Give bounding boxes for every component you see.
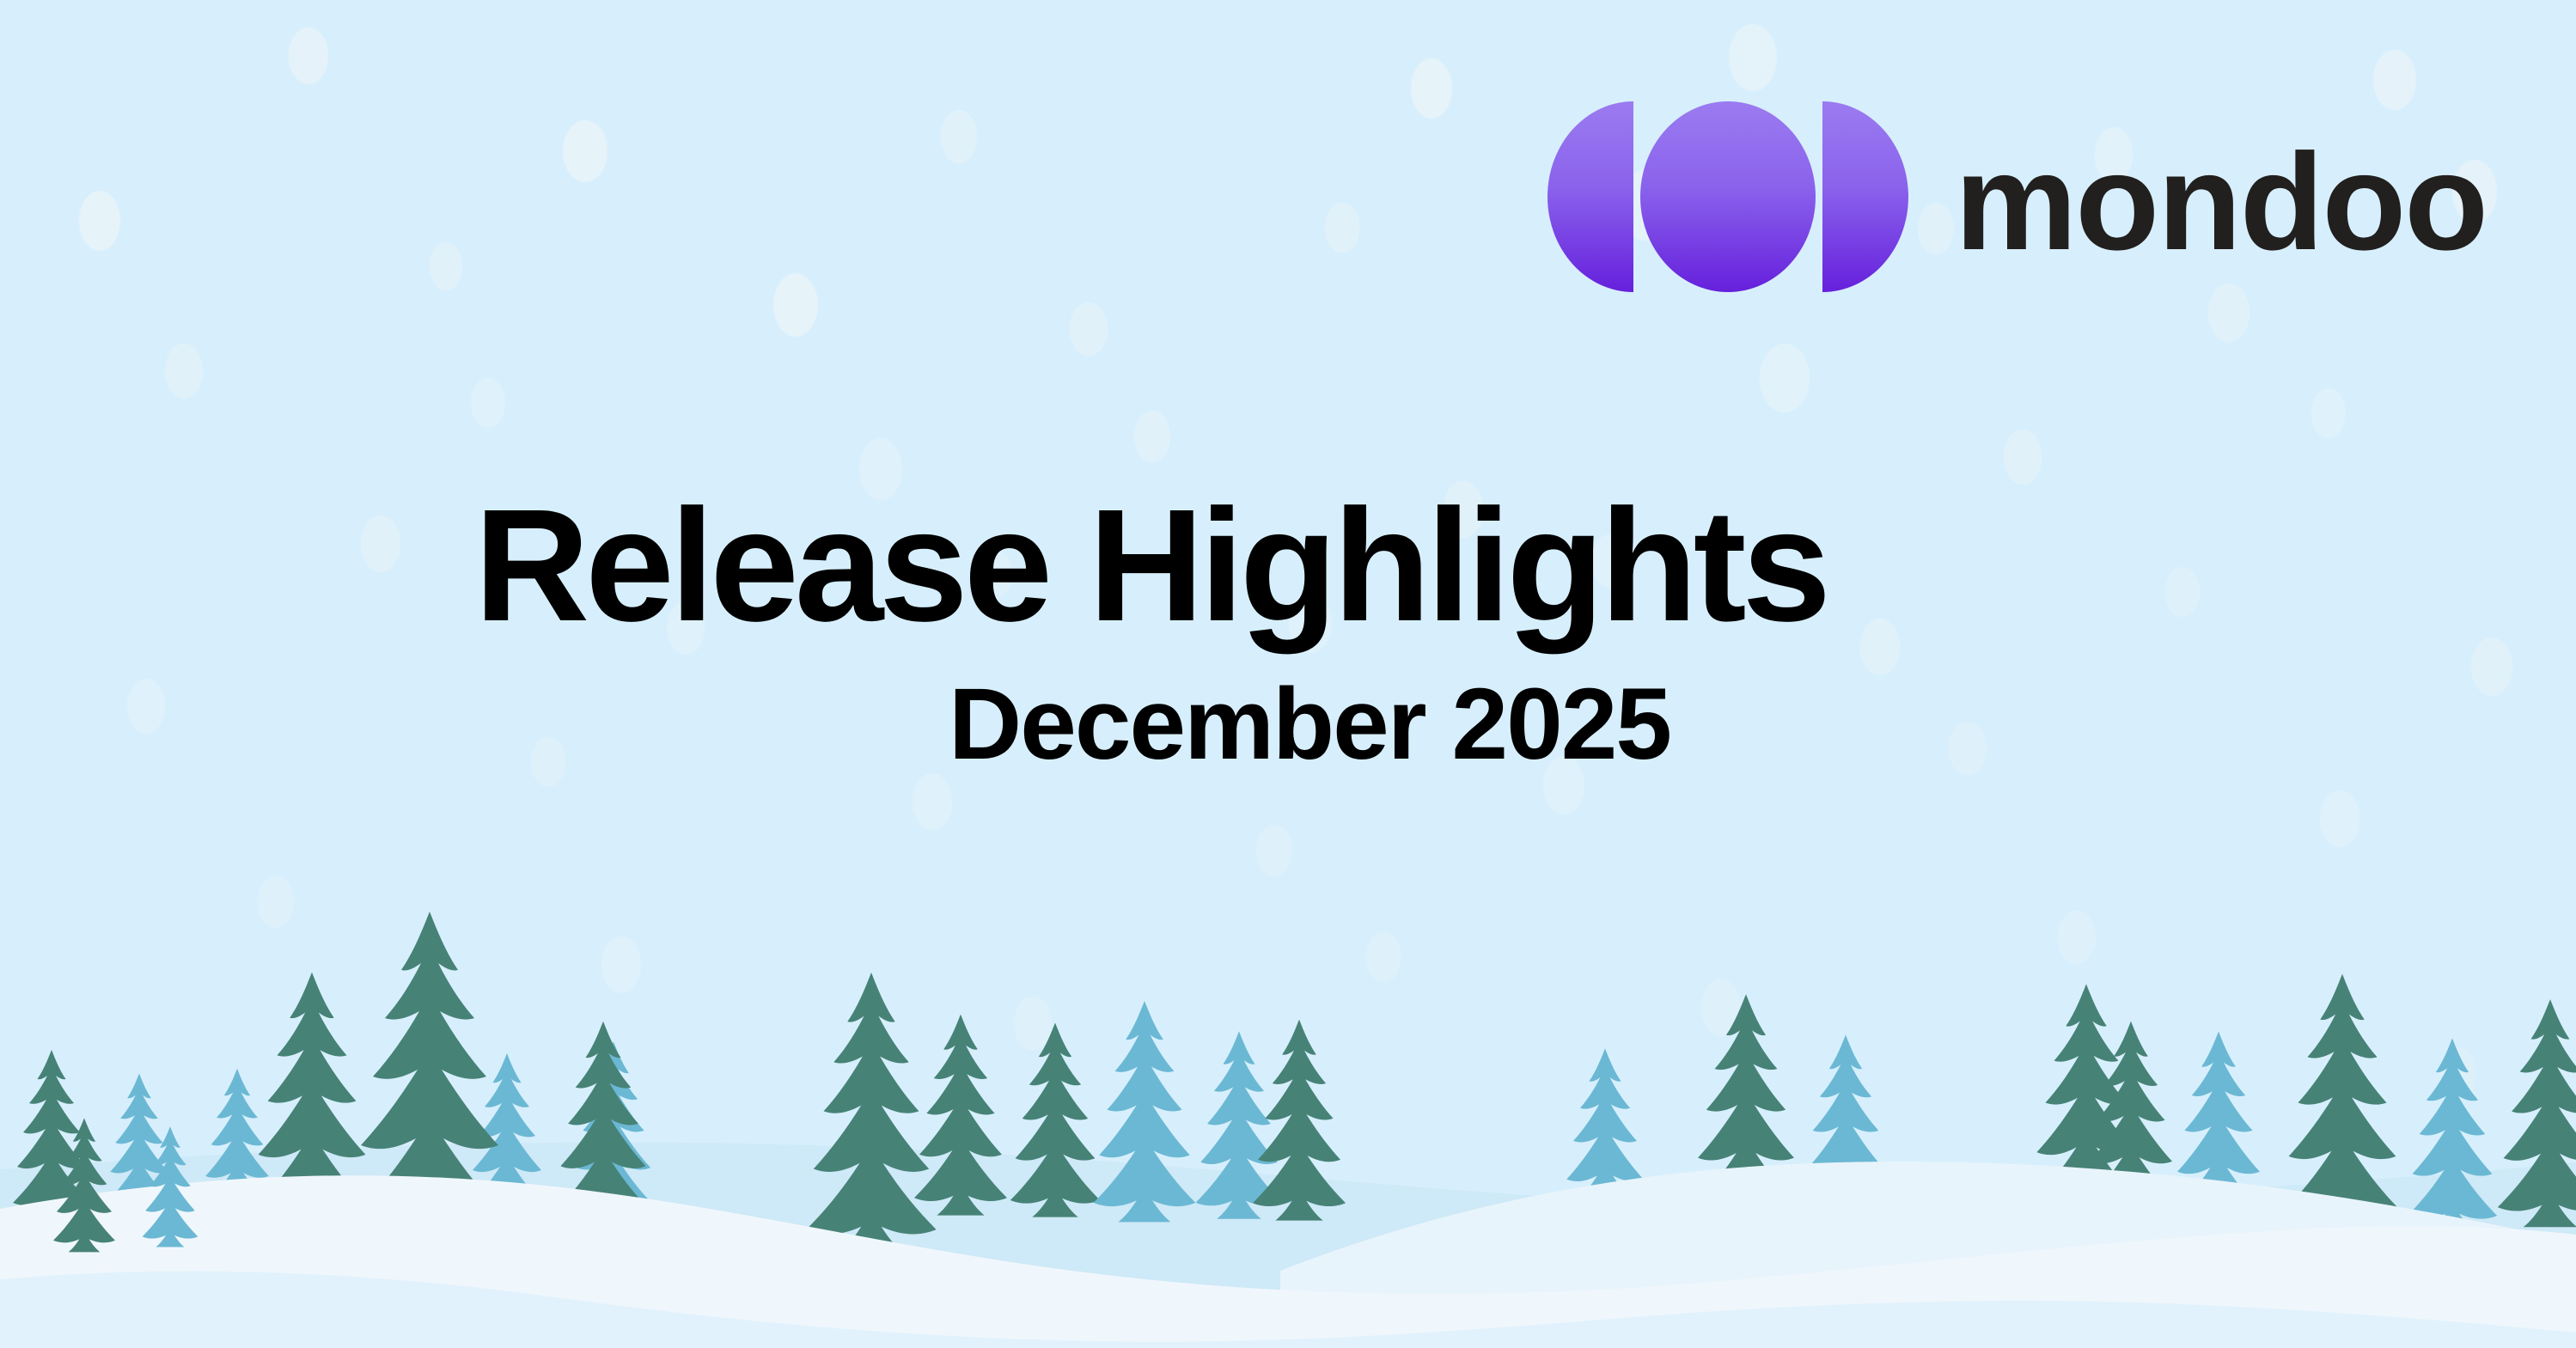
release-highlights-banner: mondoo Release Highlights December 2025 <box>0 0 2576 1348</box>
headline-block: Release Highlights December 2025 <box>0 481 2576 781</box>
tree-hero-center <box>806 973 936 1254</box>
mondoo-wordmark: mondoo <box>1955 133 2487 271</box>
mondoo-logo-mark <box>1547 101 1908 292</box>
tree-group-center-left <box>914 1001 1346 1222</box>
mondoo-logo[interactable]: mondoo <box>1547 101 2487 292</box>
page-subtitle: December 2025 <box>0 669 2301 781</box>
logo-shape-center <box>1640 101 1816 292</box>
winter-landscape-illustration <box>0 867 2576 1348</box>
page-title: Release Highlights <box>0 481 2301 650</box>
